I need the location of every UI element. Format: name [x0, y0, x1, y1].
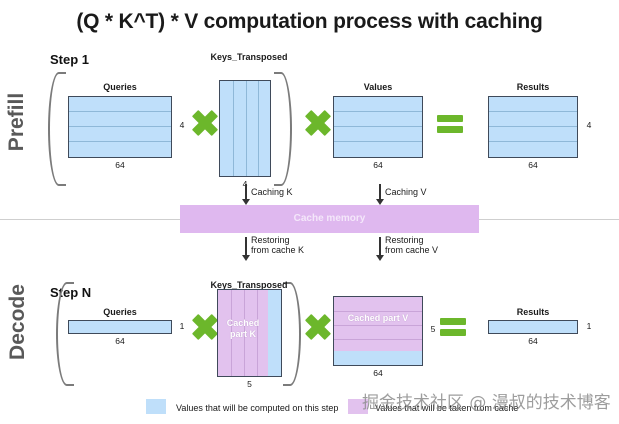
matrix-rowline	[334, 111, 422, 112]
restoring-v-label-line2: from cache V	[385, 245, 438, 255]
matrix-colline	[258, 81, 259, 176]
decode-results-width: 64	[488, 336, 578, 346]
section-label-decode: Decode	[6, 284, 30, 360]
decode-queries-width: 64	[68, 336, 172, 346]
caching-k-arrow	[245, 184, 247, 200]
restoring-k-arrow	[245, 237, 247, 256]
prefill-results-caption: Results	[488, 82, 578, 92]
equals-operator-icon	[440, 318, 466, 336]
multiply-operator-icon	[190, 312, 220, 342]
compute-region	[334, 351, 422, 365]
matrix-rowline	[69, 111, 171, 112]
restoring-k-label-line1: Restoring	[251, 235, 290, 245]
decode-values-matrix: Cached part V	[333, 296, 423, 366]
restoring-v-label-line1: Restoring	[385, 235, 424, 245]
decode-values-inner-label: Cached part V	[334, 313, 422, 324]
prefill-keys-matrix	[219, 80, 271, 177]
legend-swatch-compute	[146, 399, 166, 414]
decode-keys-inner-label: Cached part K	[218, 318, 268, 340]
matrix-colline	[233, 81, 234, 176]
matrix-colline	[246, 81, 247, 176]
prefill-queries-width: 64	[68, 160, 172, 170]
prefill-queries-height: 4	[175, 120, 189, 130]
decode-bracket-right	[283, 282, 301, 386]
multiply-operator-icon	[303, 108, 333, 138]
decode-values-height: 5	[426, 324, 440, 334]
matrix-rowline	[334, 325, 422, 326]
compute-region	[268, 290, 281, 376]
prefill-bracket-left	[48, 72, 66, 186]
prefill-results-height: 4	[582, 120, 596, 130]
multiply-operator-icon	[190, 108, 220, 138]
prefill-values-caption: Values	[333, 82, 423, 92]
matrix-rowline	[334, 141, 422, 142]
prefill-results-matrix	[488, 96, 578, 158]
decode-queries-matrix	[68, 320, 172, 334]
matrix-rowline	[489, 126, 577, 127]
matrix-rowline	[69, 141, 171, 142]
matrix-rowline	[334, 339, 422, 340]
matrix-rowline	[489, 141, 577, 142]
decode-keys-width: 5	[217, 379, 282, 389]
caching-v-label: Caching V	[385, 187, 427, 197]
decode-results-caption: Results	[488, 307, 578, 317]
equals-operator-icon	[437, 115, 463, 133]
cache-memory-bar: Cache memory	[180, 205, 479, 233]
caching-v-arrow	[379, 184, 381, 200]
matrix-rowline	[334, 126, 422, 127]
decode-results-height: 1	[582, 321, 596, 331]
matrix-rowline	[69, 126, 171, 127]
decode-values-width: 64	[333, 368, 423, 378]
prefill-keys-caption: Keys_Transposed	[197, 52, 301, 62]
matrix-rowline	[334, 311, 422, 312]
restoring-k-label-line2: from cache K	[251, 245, 304, 255]
page-title: (Q * K^T) * V computation process with c…	[0, 10, 619, 34]
restoring-v-arrow	[379, 237, 381, 256]
section-label-prefill: Prefill	[5, 87, 29, 157]
caching-k-label: Caching K	[251, 187, 293, 197]
prefill-bracket-right	[274, 72, 292, 186]
prefill-queries-caption: Queries	[68, 82, 172, 92]
prefill-values-width: 64	[333, 160, 423, 170]
cached-region	[334, 297, 422, 351]
decode-queries-caption: Queries	[68, 307, 172, 317]
prefill-step-label: Step 1	[50, 52, 89, 67]
watermark: 掘金技术社区 @ 漫叔的技术博客	[362, 388, 611, 413]
decode-keys-matrix: Cached part K	[217, 289, 282, 377]
prefill-results-width: 64	[488, 160, 578, 170]
prefill-values-matrix	[333, 96, 423, 158]
matrix-rowline	[489, 111, 577, 112]
decode-results-matrix	[488, 320, 578, 334]
cache-memory-label: Cache memory	[180, 213, 479, 224]
decode-bracket-left	[56, 282, 74, 386]
prefill-queries-matrix	[68, 96, 172, 158]
decode-queries-height: 1	[175, 321, 189, 331]
legend-label-compute: Values that will be computed on this ste…	[176, 403, 338, 413]
diagram-canvas: (Q * K^T) * V computation process with c…	[0, 0, 619, 424]
multiply-operator-icon	[303, 312, 333, 342]
